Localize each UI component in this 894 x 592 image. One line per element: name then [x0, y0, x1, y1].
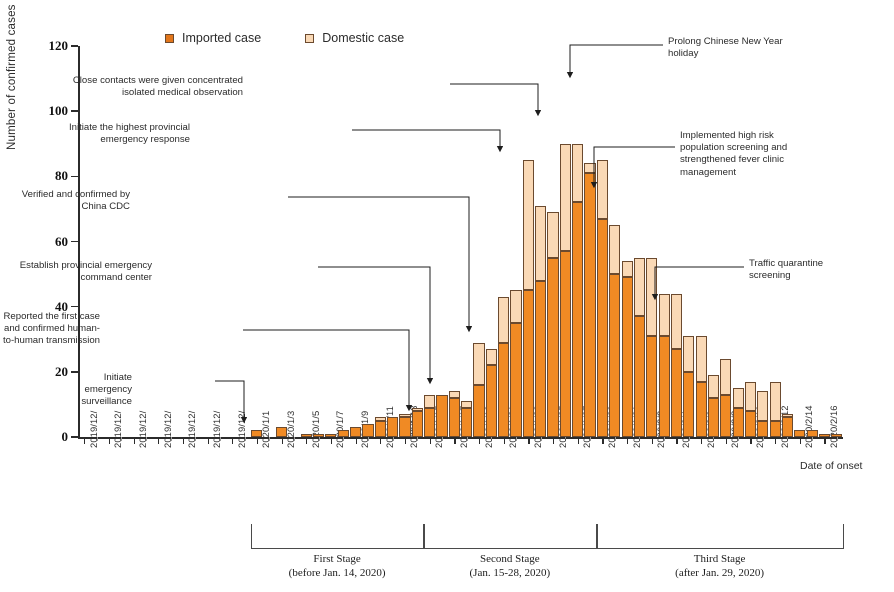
chart-root: Number of confirmed cases Imported case … [0, 0, 894, 592]
bar-segment-imported [436, 395, 447, 437]
bar-segment-domestic [782, 414, 793, 417]
x-tick [380, 437, 381, 444]
y-tick-label: 60 [28, 234, 68, 250]
bar-segment-domestic [733, 388, 744, 408]
bar-segment-imported [486, 365, 497, 437]
bar-stack [745, 382, 756, 437]
x-tick [430, 437, 431, 444]
stage-rule [596, 548, 843, 549]
bar-stack [473, 343, 484, 437]
bar-segment-imported [535, 281, 546, 437]
bar-segment-imported [609, 274, 620, 437]
x-tick [208, 437, 209, 444]
bar-segment-imported [659, 336, 670, 437]
bar-segment-domestic [523, 160, 534, 290]
bar-segment-imported [733, 408, 744, 437]
bar-stack [498, 297, 509, 437]
bar-segment-imported [350, 427, 361, 437]
bar-stack [646, 258, 657, 437]
stage-tick [843, 524, 844, 549]
bar-segment-domestic [486, 349, 497, 365]
x-tick [824, 437, 825, 444]
bar-segment-domestic [473, 343, 484, 385]
y-tick [71, 241, 78, 242]
bar-stack [251, 430, 262, 437]
stage-tick [423, 524, 424, 549]
bar-segment-imported [646, 336, 657, 437]
x-tick [232, 437, 233, 444]
y-tick-label: 0 [28, 429, 68, 445]
bar-segment-domestic [572, 144, 583, 203]
bar-segment-domestic [399, 414, 410, 417]
chart-legend: Imported case Domestic case [165, 31, 404, 45]
bar-segment-domestic [696, 336, 707, 382]
bar-segment-imported [770, 421, 781, 437]
legend-label-imported: Imported case [182, 31, 261, 45]
bar-segment-imported [819, 434, 830, 437]
bar-segment-imported [313, 434, 324, 437]
bar-stack [807, 430, 818, 437]
bar-segment-imported [683, 372, 694, 437]
annotation-a3: Establish provincial emergency command c… [0, 260, 152, 284]
bar-segment-domestic [560, 144, 571, 252]
bar-segment-domestic [498, 297, 509, 343]
bar-segment-domestic [683, 336, 694, 372]
annotation-a6: Close contacts were given concentrated i… [0, 75, 243, 99]
bar-segment-domestic [720, 359, 731, 395]
x-tick [800, 437, 801, 444]
bar-segment-domestic [461, 401, 472, 408]
bar-stack [733, 388, 744, 437]
bar-segment-domestic [547, 212, 558, 258]
bar-stack [634, 258, 645, 437]
x-tick [405, 437, 406, 444]
bar-segment-imported [572, 202, 583, 437]
bar-stack [362, 424, 373, 437]
bar-stack [387, 417, 398, 437]
x-tick [183, 437, 184, 444]
x-tick [257, 437, 258, 444]
bar-stack [683, 336, 694, 437]
bar-segment-domestic [449, 391, 460, 398]
bar-stack [671, 294, 682, 437]
bar-segment-domestic [584, 163, 595, 173]
bar-segment-imported [584, 173, 595, 437]
bar-segment-imported [375, 421, 386, 437]
y-tick-label: 120 [28, 38, 68, 54]
bar-stack [301, 434, 312, 437]
x-tick [282, 437, 283, 444]
bar-segment-domestic [708, 375, 719, 398]
x-tick [726, 437, 727, 444]
x-tick [454, 437, 455, 444]
bar-stack [313, 434, 324, 437]
stage-label: First Stage(before Jan. 14, 2020) [251, 552, 424, 580]
bar-stack [276, 427, 287, 437]
bar-segment-imported [424, 408, 435, 437]
bar-segment-domestic [659, 294, 670, 336]
plot-area [78, 46, 843, 437]
stage-label: Second Stage(Jan. 15-28, 2020) [423, 552, 596, 580]
x-tick [775, 437, 776, 444]
bar-segment-domestic [597, 160, 608, 219]
bar-stack [510, 290, 521, 437]
stage-label-range: (after Jan. 29, 2020) [596, 566, 843, 580]
bar-stack [325, 434, 336, 437]
bar-stack [622, 261, 633, 437]
bar-stack [819, 434, 830, 437]
bar-stack [350, 427, 361, 437]
annotation-a7: Prolong Chinese New Year holiday [668, 36, 878, 60]
x-tick [602, 437, 603, 444]
stage-label: Third Stage(after Jan. 29, 2020) [596, 552, 843, 580]
bar-segment-domestic [412, 408, 423, 411]
stage-label-name: Third Stage [596, 552, 843, 566]
bar-stack [412, 408, 423, 437]
bar-segment-imported [757, 421, 768, 437]
annotation-a1: Initiate emergency surveillance [0, 372, 132, 409]
bar-segment-imported [412, 411, 423, 437]
bar-segment-domestic [375, 417, 386, 420]
x-axis-title: Date of onset [800, 460, 870, 473]
bar-segment-domestic [622, 261, 633, 277]
x-tick [109, 437, 110, 444]
bar-segment-domestic [510, 290, 521, 323]
bar-segment-imported [560, 251, 571, 437]
bar-segment-imported [696, 382, 707, 437]
legend-item-imported: Imported case [165, 31, 261, 45]
bar-stack [831, 434, 842, 437]
x-tick [504, 437, 505, 444]
bar-segment-imported [338, 430, 349, 437]
annotation-a9: Traffic quarantine screening [749, 258, 894, 282]
bar-stack [659, 294, 670, 437]
bar-segment-imported [622, 277, 633, 437]
bar-stack [535, 206, 546, 437]
bar-stack [523, 160, 534, 437]
bar-stack [547, 212, 558, 437]
bar-segment-domestic [646, 258, 657, 336]
bar-segment-imported [671, 349, 682, 437]
stage-tick [251, 524, 252, 549]
bar-stack [757, 391, 768, 437]
bar-segment-imported [745, 411, 756, 437]
annotation-a5: Initiate the highest provincial emergenc… [0, 122, 190, 146]
bar-segment-imported [510, 323, 521, 437]
stage-label-name: Second Stage [423, 552, 596, 566]
bar-stack [338, 430, 349, 437]
bar-segment-imported [387, 417, 398, 437]
stage-label-range: (before Jan. 14, 2020) [251, 566, 424, 580]
bar-segment-imported [807, 430, 818, 437]
annotation-a8: Implemented high risk population screeni… [680, 130, 890, 179]
bar-segment-imported [362, 424, 373, 437]
stage-label-range: (Jan. 15-28, 2020) [423, 566, 596, 580]
bar-segment-domestic [535, 206, 546, 281]
bar-segment-imported [399, 417, 410, 437]
x-tick [134, 437, 135, 444]
bar-stack [375, 417, 386, 437]
bar-segment-imported [276, 427, 287, 437]
y-tick [71, 110, 78, 111]
x-tick [553, 437, 554, 444]
bar-segment-imported [720, 395, 731, 437]
annotation-a2: Reported the first case and confirmed hu… [0, 311, 100, 348]
legend-item-domestic: Domestic case [305, 31, 404, 45]
bar-segment-imported [597, 219, 608, 437]
stage-label-name: First Stage [251, 552, 424, 566]
stage-rule [423, 548, 596, 549]
bar-segment-imported [498, 343, 509, 437]
bar-segment-domestic [634, 258, 645, 317]
x-tick [652, 437, 653, 444]
bar-segment-domestic [671, 294, 682, 349]
x-tick [306, 437, 307, 444]
y-tick [71, 436, 78, 437]
bar-stack [486, 349, 497, 437]
y-tick-label: 100 [28, 103, 68, 119]
bar-segment-imported [794, 430, 805, 437]
y-tick-label: 80 [28, 168, 68, 184]
x-tick [750, 437, 751, 444]
annotation-a4: Verified and confirmed by China CDC [0, 189, 130, 213]
bar-segment-imported [449, 398, 460, 437]
bar-stack [572, 144, 583, 437]
x-tick [676, 437, 677, 444]
bar-segment-imported [523, 290, 534, 437]
bar-segment-imported [301, 434, 312, 437]
x-tick [528, 437, 529, 444]
bar-stack [770, 382, 781, 437]
bar-segment-imported [325, 434, 336, 437]
bar-stack [696, 336, 707, 437]
bar-segment-domestic [424, 395, 435, 408]
bar-stack [399, 414, 410, 437]
y-tick [71, 176, 78, 177]
bar-segment-imported [782, 417, 793, 437]
bar-segment-imported [547, 258, 558, 437]
bar-stack [584, 163, 595, 437]
bar-stack [794, 430, 805, 437]
y-tick [71, 306, 78, 307]
stage-rule [251, 548, 424, 549]
x-tick [578, 437, 579, 444]
legend-swatch-imported-icon [165, 34, 174, 43]
bar-segment-imported [461, 408, 472, 437]
x-tick [158, 437, 159, 444]
x-tick [479, 437, 480, 444]
x-tick [627, 437, 628, 444]
stage-tick [596, 524, 597, 549]
bar-segment-domestic [745, 382, 756, 411]
bar-stack [720, 359, 731, 437]
x-tick [331, 437, 332, 444]
bar-stack [782, 414, 793, 437]
bar-stack [597, 160, 608, 437]
bar-stack [708, 375, 719, 437]
x-tick [84, 437, 85, 444]
legend-swatch-domestic-icon [305, 34, 314, 43]
bar-stack [424, 395, 435, 437]
bar-segment-domestic [770, 382, 781, 421]
x-tick [701, 437, 702, 444]
bar-segment-imported [831, 434, 842, 437]
bar-stack [436, 395, 447, 437]
bar-segment-domestic [609, 225, 620, 274]
bar-segment-imported [708, 398, 719, 437]
bar-stack [609, 225, 620, 437]
bar-stack [560, 144, 571, 437]
bar-segment-imported [634, 316, 645, 437]
legend-label-domestic: Domestic case [322, 31, 404, 45]
bar-stack [461, 401, 472, 437]
bar-segment-imported [251, 430, 262, 437]
x-tick [356, 437, 357, 444]
bar-segment-imported [473, 385, 484, 437]
bar-stack [449, 391, 460, 437]
y-tick [71, 45, 78, 46]
bar-segment-domestic [757, 391, 768, 420]
